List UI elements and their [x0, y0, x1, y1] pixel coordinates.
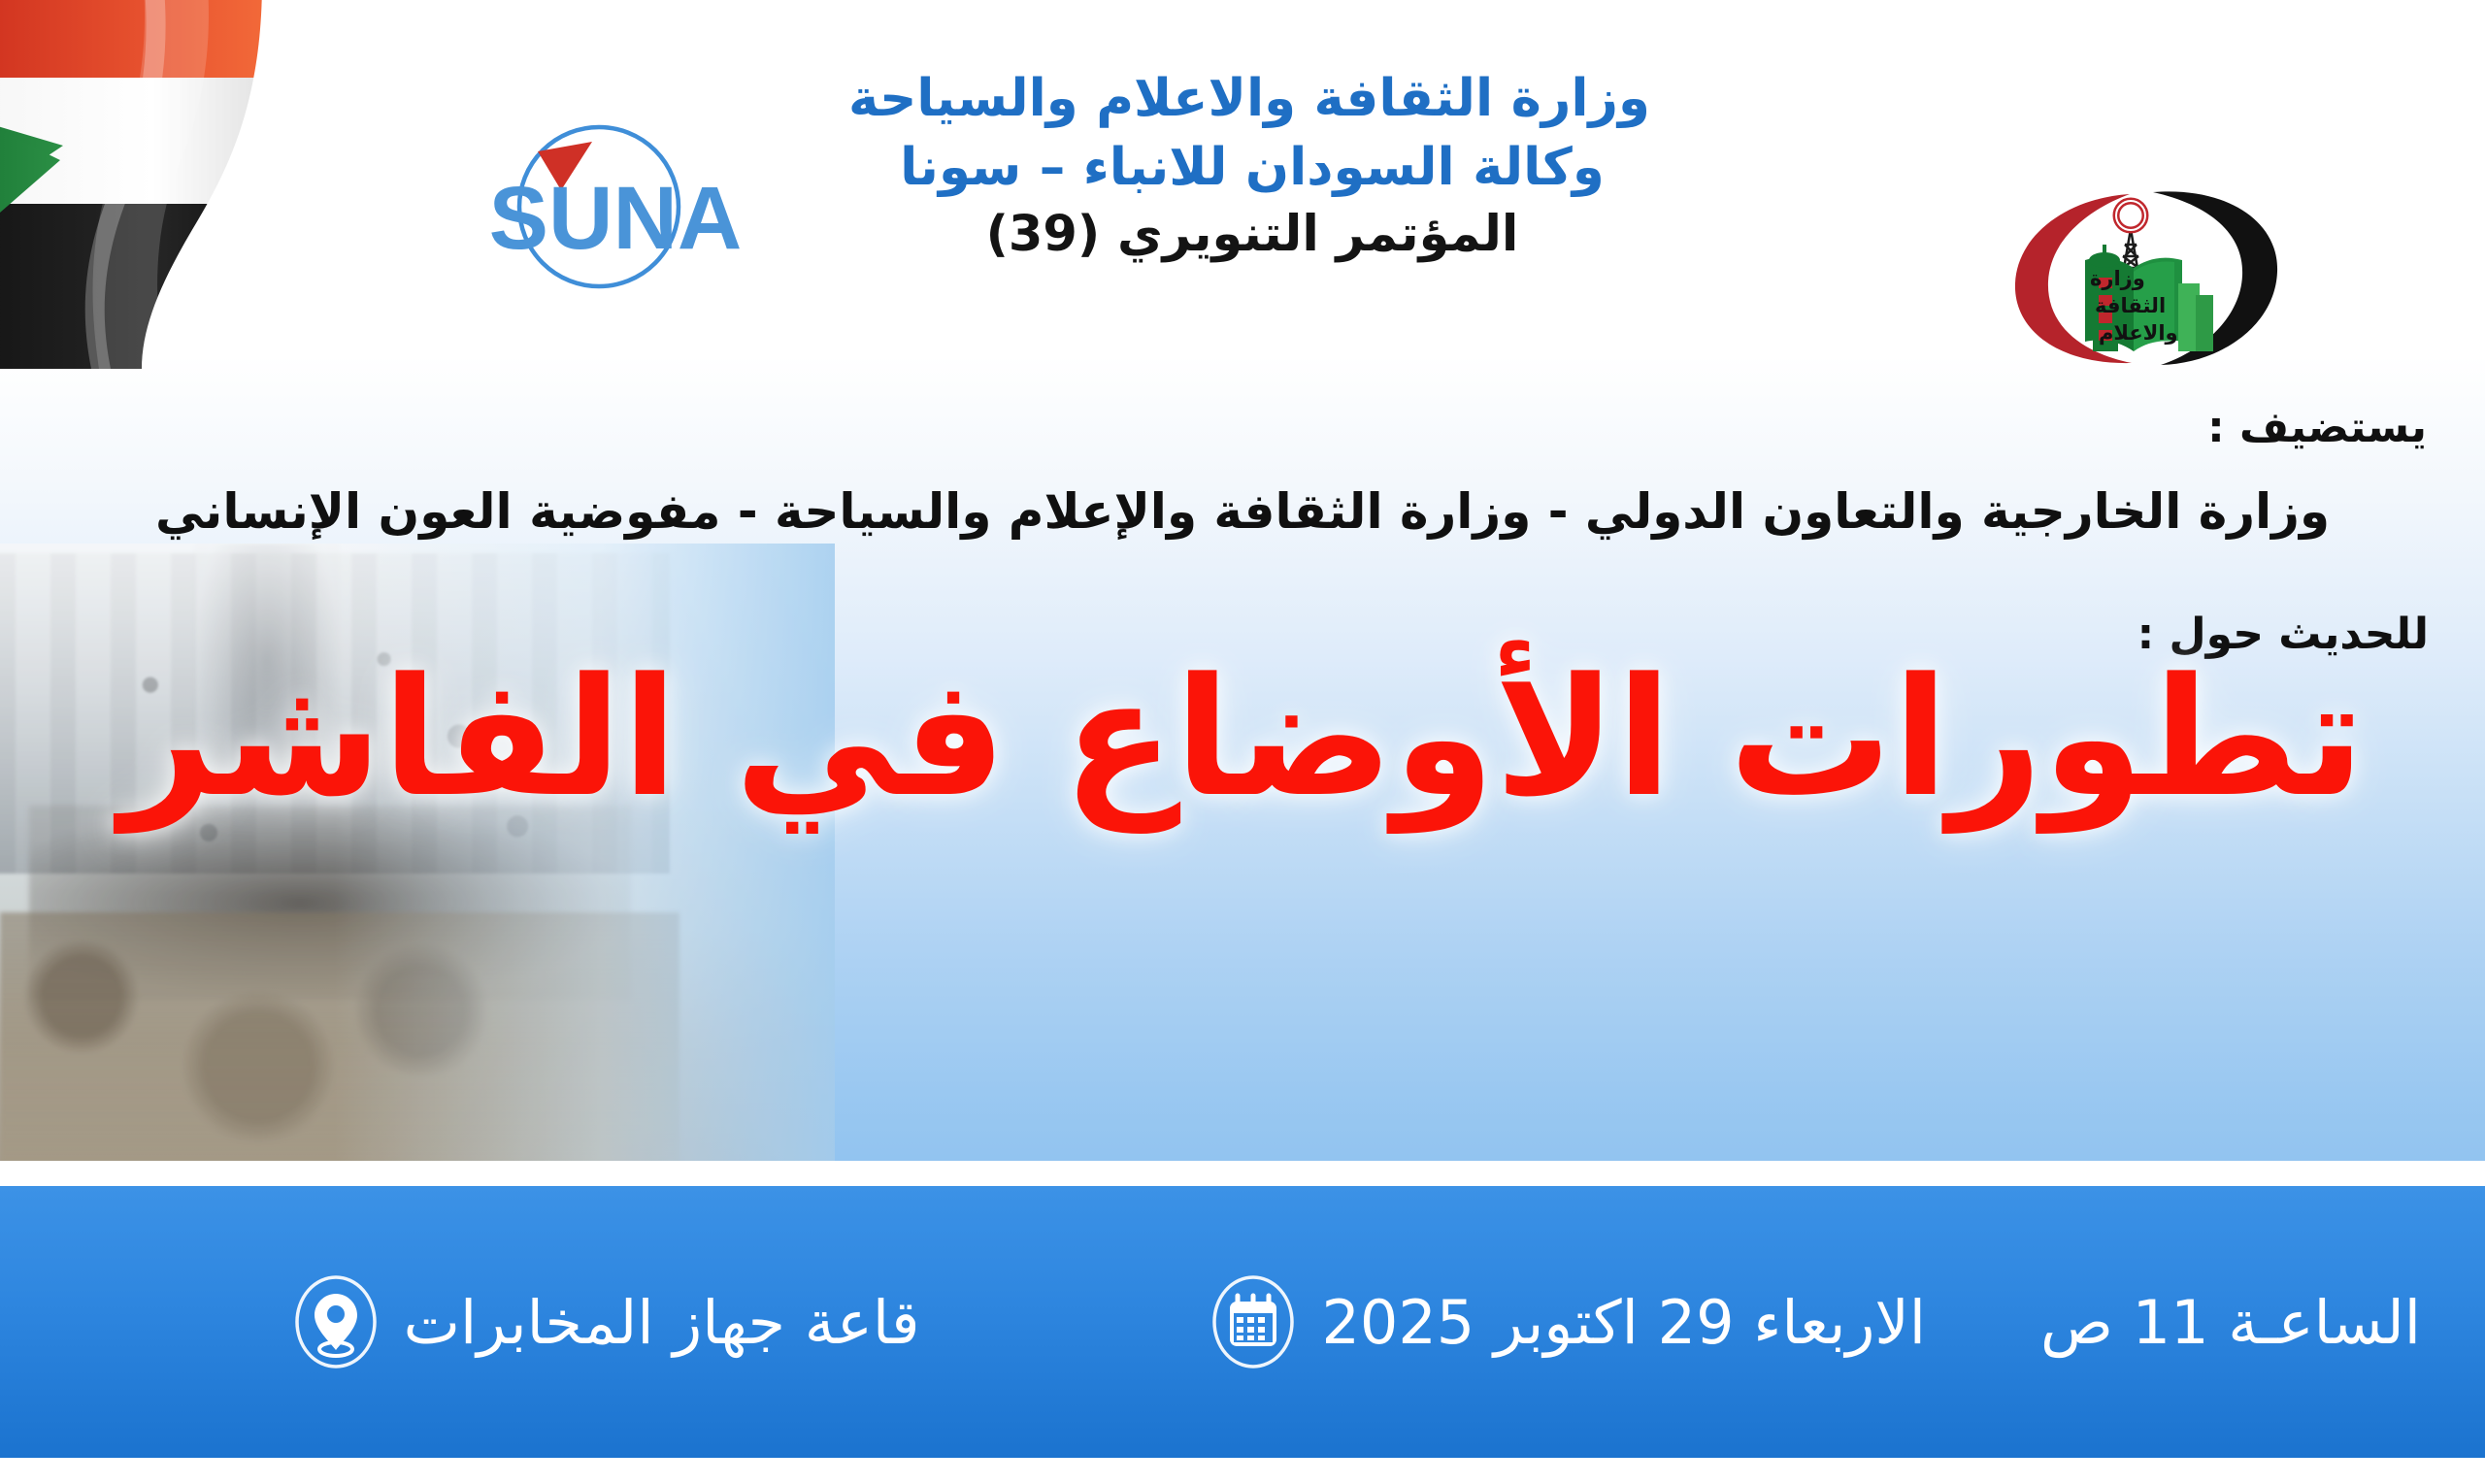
event-date-group: الاربعاء 29 اكتوبر 2025 — [1210, 1274, 1926, 1369]
poster-header: SUNA وزارة الثقافة والاعلام والسياحة وكا… — [0, 64, 2485, 355]
calendar-icon — [1210, 1274, 1296, 1369]
hosts-organizations: وزارة الخارجية والتعاون الدولي - وزارة ا… — [0, 483, 2485, 540]
ministry-logo: وزارة الثقافة والاعلام — [1998, 171, 2294, 384]
poster-footer: الساعـة 11 ص الاربعاء 29 اكتوبر 2025 — [0, 1186, 2485, 1458]
conference-poster: SUNA وزارة الثقافة والاعلام والسياحة وكا… — [0, 0, 2485, 1484]
event-date: الاربعاء 29 اكتوبر 2025 — [1321, 1287, 1926, 1358]
location-pin-icon — [293, 1274, 379, 1369]
background-rubble-photo — [0, 544, 835, 1186]
ministry-title-line: وزارة الثقافة والاعلام والسياحة — [854, 64, 1650, 133]
event-time: الساعـة 11 ص — [2040, 1287, 2421, 1358]
page-title: تطورات الأوضاع في الفاشر — [0, 648, 2485, 828]
suna-wordmark: SUNA — [489, 169, 743, 268]
agency-title-line: وكالة السودان للانباء – سونا — [854, 133, 1650, 202]
hosts-label: يستضيف : — [2207, 403, 2427, 452]
ministry-logo-line1: وزارة — [2090, 267, 2145, 290]
conference-number-line: المؤتمر التنويري (39) — [854, 202, 1650, 268]
footer-white-gap — [0, 1161, 2485, 1186]
suna-logo: SUNA — [478, 115, 759, 294]
ministry-logo-line3: والاعلام — [2099, 321, 2178, 345]
ministry-logo-line2: الثقافة — [2095, 294, 2166, 317]
footer-bottom-white-strip — [0, 1458, 2485, 1484]
event-venue-group: قاعة جهاز المخابرات — [293, 1274, 920, 1369]
event-venue: قاعة جهاز المخابرات — [404, 1287, 920, 1358]
header-title-block: وزارة الثقافة والاعلام والسياحة وكالة ال… — [854, 64, 1650, 268]
